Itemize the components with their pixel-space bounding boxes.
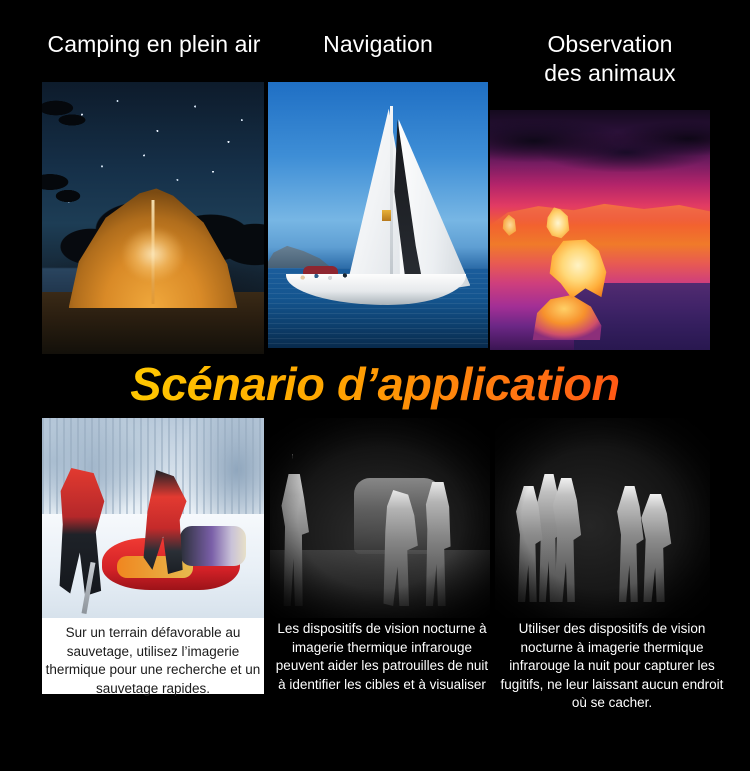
- sailboat-image-content: [268, 82, 488, 348]
- photo-camping-tent-night: [42, 82, 264, 354]
- night-vision-fugitives-content: [495, 418, 710, 618]
- caption-fugitive-capture: Utiliser des dispositifs de vision noctu…: [500, 620, 724, 713]
- photo-thermal-deer: [490, 110, 710, 350]
- camping-image-content: [42, 82, 264, 354]
- tent-interior-glow: [109, 220, 198, 296]
- thermal-cold-clouds: [490, 120, 710, 173]
- column-heading-animal-observation: Observation des animaux: [490, 30, 730, 88]
- photo-snow-rescue: [42, 418, 264, 618]
- column-heading-navigation: Navigation: [262, 30, 494, 59]
- caption-snow-rescue: Sur un terrain défavorable au sauvetage,…: [42, 618, 264, 694]
- column-heading-camping: Camping en plein air: [8, 30, 300, 59]
- night-vision-patrol-content: [270, 418, 490, 618]
- mast: [390, 106, 393, 300]
- lens-vignette: [270, 418, 490, 618]
- thermal-image-content: [490, 110, 710, 350]
- lens-vignette: [495, 418, 710, 618]
- caption-night-patrol: Les dispositifs de vision nocturne à ima…: [272, 620, 492, 694]
- rescue-image-content: [42, 418, 264, 618]
- flag: [382, 210, 391, 221]
- photo-night-vision-patrol: [270, 418, 490, 618]
- application-scenario-banner: Camping en plein air Navigation Observat…: [0, 0, 750, 771]
- photo-sailboat-sea: [268, 82, 488, 348]
- photo-night-vision-fugitives: [495, 418, 710, 618]
- main-title: Scénario d’application: [0, 356, 750, 412]
- crew-members: [297, 268, 354, 284]
- patient-on-sled: [180, 526, 247, 566]
